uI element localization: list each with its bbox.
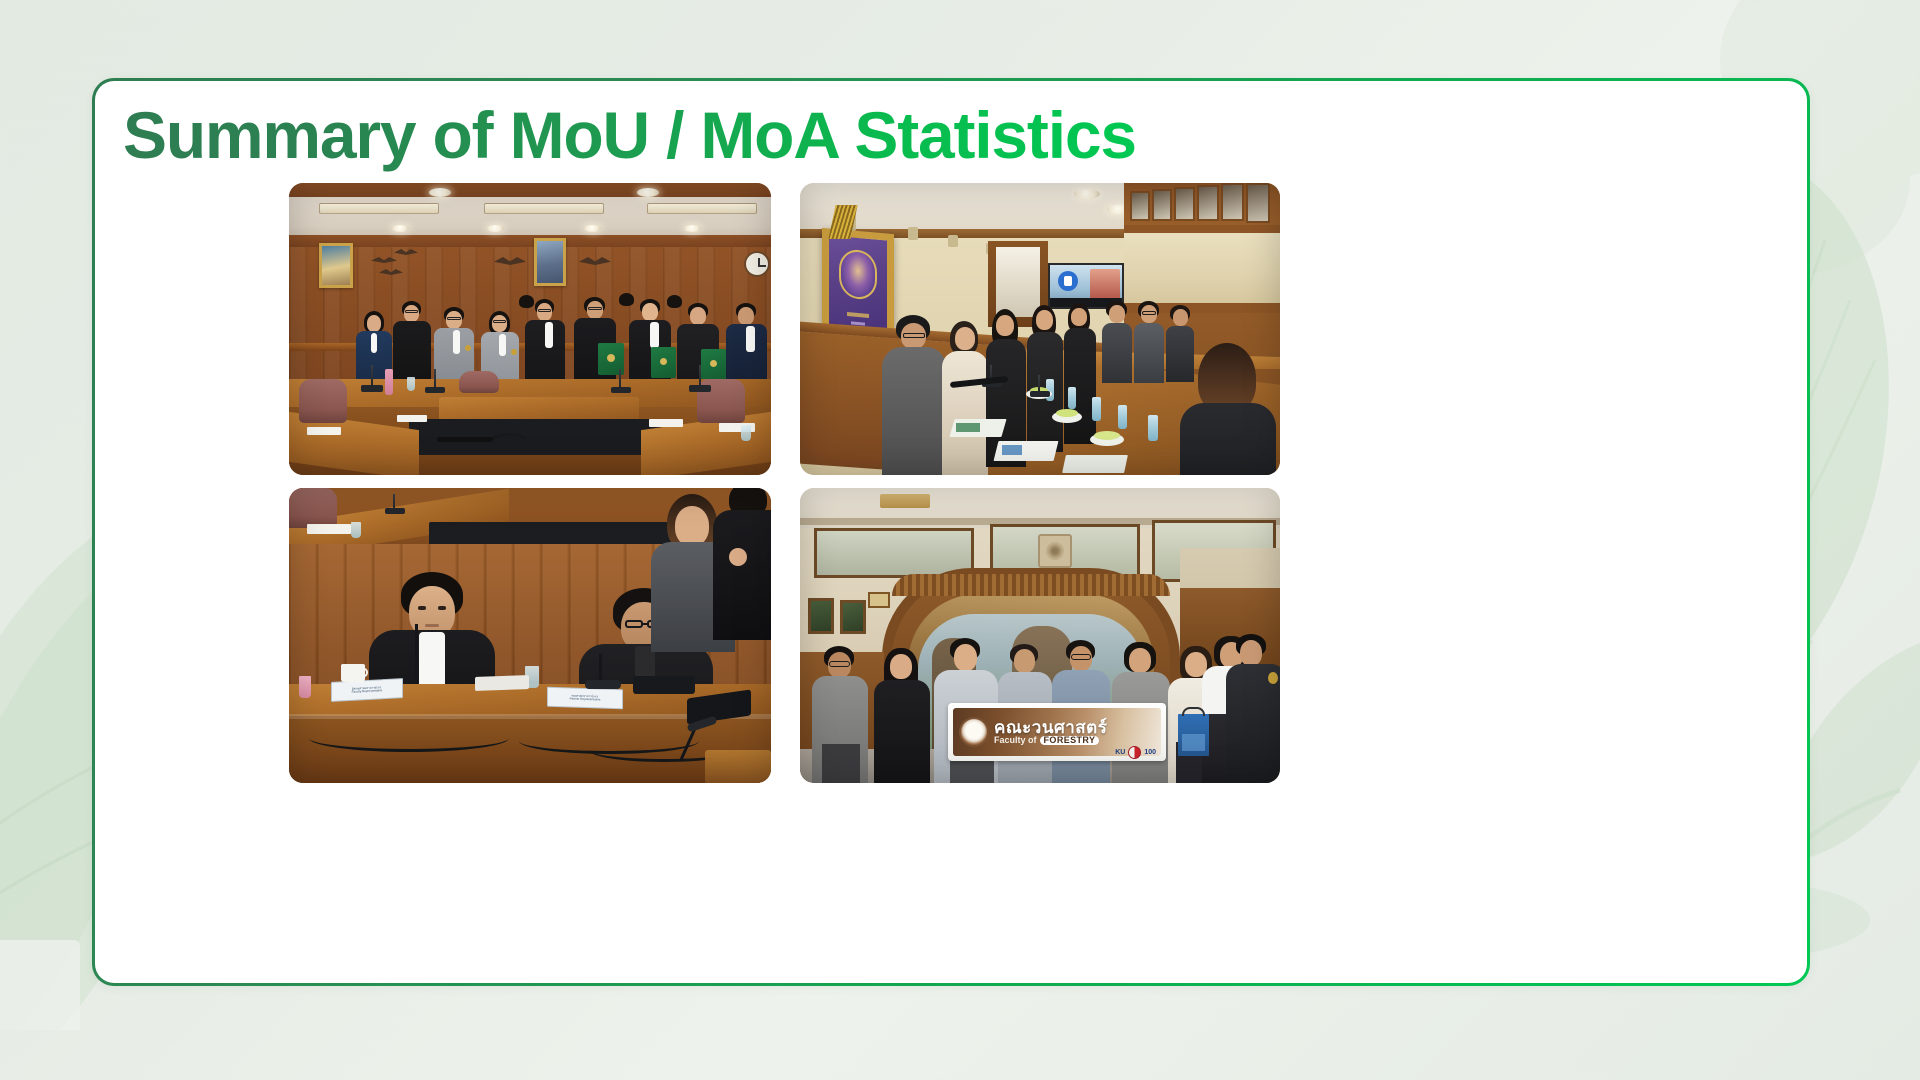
ceiling-fan-vent xyxy=(1038,534,1072,568)
painting-frame xyxy=(534,238,566,286)
slide-card: Summary of MoU / MoA Statistics xyxy=(92,78,1810,986)
page-title: Summary of MoU / MoA Statistics xyxy=(123,99,1136,173)
wall-clock xyxy=(744,251,770,277)
mou-folder xyxy=(701,349,726,380)
mou-folder xyxy=(651,347,676,378)
photo-meeting-conference[interactable] xyxy=(800,183,1280,475)
photo-signing-ceremony[interactable]: ผู้ช่วยศาสตราจารย์ ดร.Faculty Representa… xyxy=(289,488,771,783)
photo-group-mou-signing[interactable] xyxy=(289,183,771,475)
nameplate-right-text: รองศาสตราจารย์ ดร.Partner Representative xyxy=(570,694,601,702)
royal-portrait xyxy=(822,228,894,339)
nameplate-left-text: ผู้ช่วยศาสตราจารย์ ดร.Faculty Representa… xyxy=(352,686,383,694)
nameplate-right: รองศาสตราจารย์ ดร.Partner Representative xyxy=(547,687,623,710)
banner-english-prefix: Faculty of xyxy=(994,736,1037,745)
photo-forestry-banner-group[interactable]: คณะวนศาสตร์ Faculty of FORESTRY KU 100 xyxy=(800,488,1280,783)
centennial-logo xyxy=(1128,746,1141,759)
banner-english-highlight: FORESTRY xyxy=(1040,736,1100,745)
royal-portrait-frame xyxy=(319,243,353,288)
photo-gallery: ผู้ช่วยศาสตราจารย์ ดร.Faculty Representa… xyxy=(289,183,1583,883)
forestry-seal-icon xyxy=(959,717,989,747)
forestry-banner: คณะวนศาสตร์ Faculty of FORESTRY KU 100 xyxy=(948,703,1166,761)
centennial-label: 100 xyxy=(1144,749,1156,756)
gift-bag xyxy=(1178,714,1209,756)
ku-logo: KU xyxy=(1115,749,1125,756)
banner-thai-text: คณะวนศาสตร์ xyxy=(994,719,1107,736)
